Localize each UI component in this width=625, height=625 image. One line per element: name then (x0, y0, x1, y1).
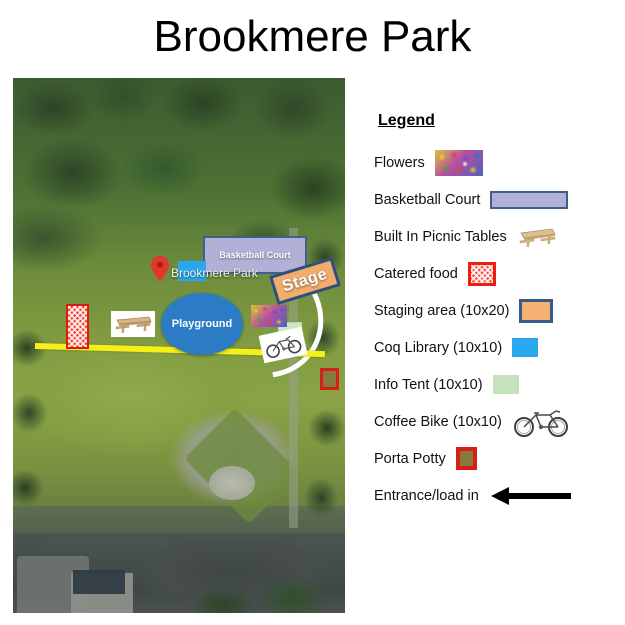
map-playground[interactable]: Playground (161, 293, 243, 355)
legend-item-staging-area[interactable]: Staging area (10x20) (374, 292, 616, 329)
rectangle-icon (519, 299, 553, 323)
building-roof-c (73, 570, 125, 594)
legend-item-label: Info Tent (10x10) (374, 377, 483, 393)
page-title: Brookmere Park (0, 12, 625, 62)
legend-item-label: Porta Potty (374, 451, 446, 467)
arrow-left-icon (489, 485, 573, 507)
flowers-icon (435, 150, 483, 176)
square-icon (456, 447, 477, 470)
legend-item-picnic-tables[interactable]: Built In Picnic Tables (374, 218, 616, 255)
legend-item-porta-potty[interactable]: Porta Potty (374, 440, 616, 477)
legend-item-label: Built In Picnic Tables (374, 229, 507, 245)
rectangle-icon (490, 191, 568, 209)
bicycle-icon (512, 407, 570, 437)
map-flowers[interactable] (251, 305, 287, 327)
legend-item-label: Coffee Bike (10x10) (374, 414, 502, 430)
legend-item-label: Basketball Court (374, 192, 480, 208)
baseball-pitchers-mound (209, 466, 255, 500)
legend-title: Legend (378, 112, 435, 130)
map-park-label: Brookmere Park (171, 266, 258, 280)
legend-item-basketball-court[interactable]: Basketball Court (374, 181, 616, 218)
map-porta-potty[interactable] (320, 368, 339, 390)
square-icon (493, 375, 519, 394)
map-picnic-table[interactable] (111, 311, 155, 337)
legend-item-flowers[interactable]: Flowers (374, 144, 616, 181)
legend-item-coffee-bike[interactable]: Coffee Bike (10x10) (374, 403, 616, 440)
legend-panel: Legend Flowers Basketball Court Built In… (374, 112, 616, 514)
legend-item-entrance[interactable]: Entrance/load in (374, 477, 616, 514)
legend-item-label: Entrance/load in (374, 488, 479, 504)
legend-item-catered-food[interactable]: Catered food (374, 255, 616, 292)
map-pin-icon (151, 256, 169, 282)
bicycle-icon (261, 330, 305, 360)
legend-item-label: Catered food (374, 266, 458, 282)
checkered-square-icon (468, 262, 496, 286)
picnic-table-icon (113, 313, 153, 335)
map-catered-food[interactable] (66, 304, 89, 349)
park-satellite-map[interactable]: Basketball Court Stage Playground (13, 78, 345, 613)
square-icon (512, 338, 538, 357)
legend-item-label: Staging area (10x20) (374, 303, 509, 319)
tree-line-bottom (183, 576, 345, 613)
picnic-table-icon (517, 225, 557, 249)
legend-item-coq-library[interactable]: Coq Library (10x10) (374, 329, 616, 366)
legend-item-label: Coq Library (10x10) (374, 340, 502, 356)
legend-item-label: Flowers (374, 155, 425, 171)
legend-item-info-tent[interactable]: Info Tent (10x10) (374, 366, 616, 403)
